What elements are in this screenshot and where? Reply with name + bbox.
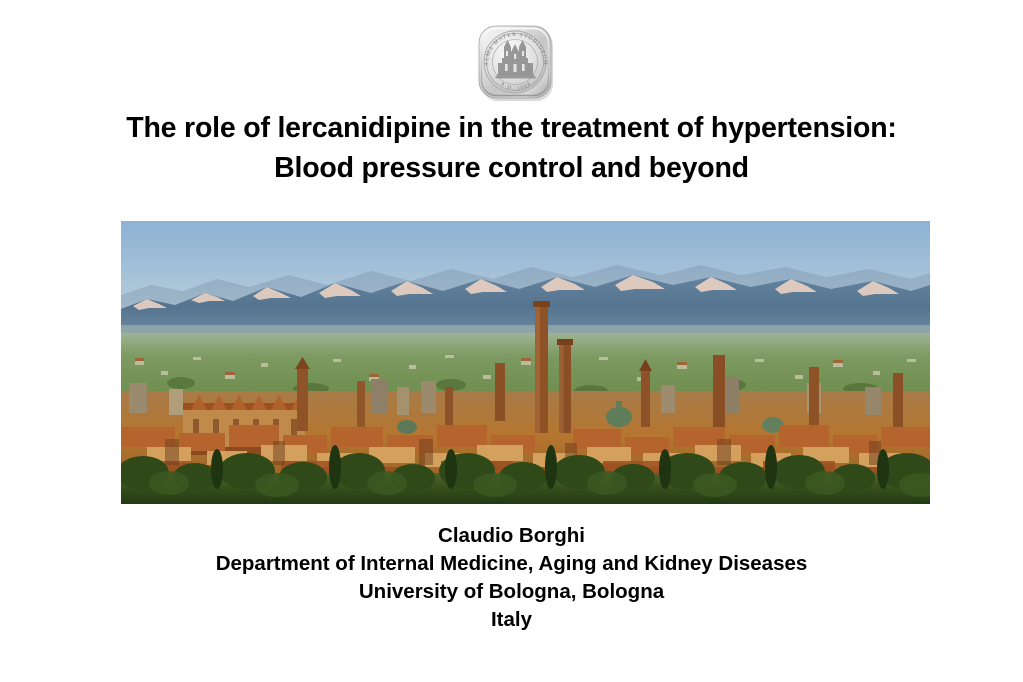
slide-title: The role of lercanidipine in the treatme…	[0, 108, 1023, 188]
bologna-skyline-illustration	[121, 221, 930, 504]
author-institution: University of Bologna, Bologna	[0, 578, 1023, 606]
author-country: Italy	[0, 606, 1023, 634]
author-department: Department of Internal Medicine, Aging a…	[0, 550, 1023, 578]
title-line-2: Blood pressure control and beyond	[0, 148, 1023, 188]
bologna-skyline-photo	[121, 221, 930, 504]
title-line-1: The role of lercanidipine in the treatme…	[0, 108, 1023, 148]
author-affiliation-block: Claudio Borghi Department of Internal Me…	[0, 522, 1023, 634]
author-name: Claudio Borghi	[0, 522, 1023, 550]
university-logo: ALMA MATER STUDIORUM A.D. 1088	[472, 18, 560, 106]
university-seal-icon: ALMA MATER STUDIORUM A.D. 1088	[472, 18, 560, 106]
